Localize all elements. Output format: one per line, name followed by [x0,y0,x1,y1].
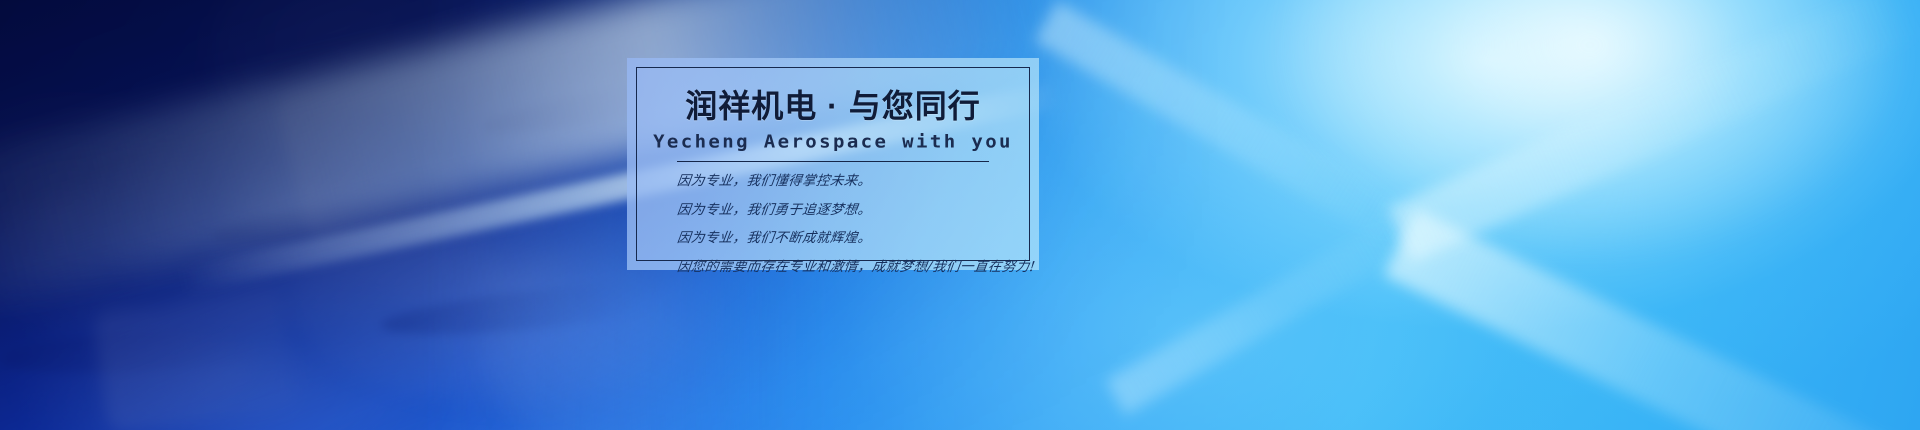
divider-rule [677,161,989,162]
slogan-line: 因为专业，我们不断成就辉煌。 [676,232,1030,246]
slogan-line-list: 因为专业，我们懂得掌控未来。 因为专业，我们勇于追逐梦想。 因为专业，我们不断成… [637,175,1029,274]
message-panel: 润祥机电 · 与您同行 Yecheng Aerospace with you 因… [627,58,1039,270]
message-panel-border: 润祥机电 · 与您同行 Yecheng Aerospace with you 因… [636,67,1030,261]
company-slogan-title: 润祥机电 · 与您同行 [685,90,980,122]
slogan-line: 因为专业，我们勇于追逐梦想。 [676,204,1030,218]
slogan-line: 因您的需要而存在专业和激情，成就梦想/我们一直在努力! [676,261,1030,275]
slogan-line: 因为专业，我们懂得掌控未来。 [676,175,1030,189]
hero-banner: 润祥机电 · 与您同行 Yecheng Aerospace with you 因… [0,0,1920,430]
company-slogan-subtitle-english: Yecheng Aerospace with you [653,132,1013,152]
